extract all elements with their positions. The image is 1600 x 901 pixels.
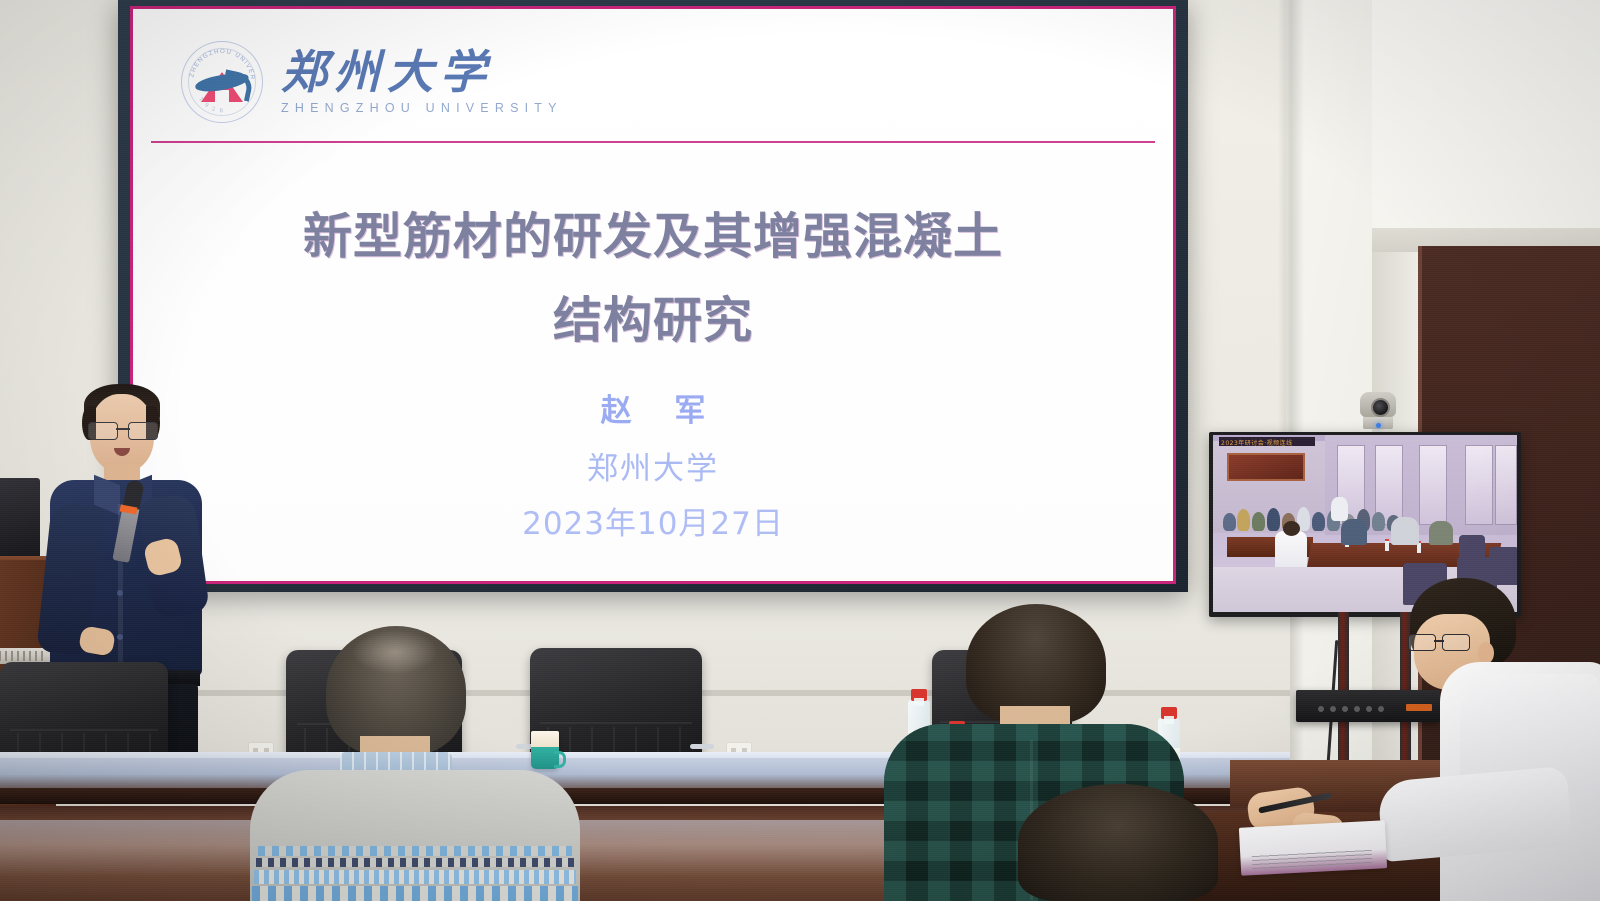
university-logo: ZHENGZHOU UNIVERSITY 1928 郑州大学 ZHENGZHOU… — [181, 41, 563, 123]
logo-english-name: ZHENGZHOU UNIVERSITY — [281, 102, 563, 115]
presenter-glasses-icon — [88, 422, 158, 438]
ceiling-soffit — [1372, 0, 1600, 252]
paper-cup[interactable] — [531, 731, 559, 769]
remote-room-banner: 2023年研讨会·视频连线 — [1221, 438, 1313, 446]
audience-member-3 — [1018, 784, 1218, 901]
presentation-slide[interactable]: ZHENGZHOU UNIVERSITY 1928 郑州大学 ZHENGZHOU… — [133, 9, 1173, 581]
audience-member-4 — [1400, 578, 1600, 901]
podium-monitor[interactable] — [0, 478, 40, 562]
attendee-glasses-icon — [1408, 634, 1470, 649]
slide-date: 2023年10月27日 — [133, 498, 1173, 543]
zhengzhou-university-seal-icon: ZHENGZHOU UNIVERSITY 1928 — [181, 41, 263, 123]
remote-audience — [1221, 503, 1407, 541]
camera-status-led — [1376, 423, 1381, 428]
chair-armrest — [690, 744, 714, 749]
av-indicator-leds — [1318, 706, 1394, 712]
slide-author: 赵 军 — [133, 385, 1173, 430]
logo-chinese-name: 郑州大学 — [281, 49, 563, 95]
camera-lens-icon — [1371, 398, 1390, 417]
slide-affiliation: 郑州大学 — [133, 443, 1173, 488]
slide-title-line-2: 结构研究 — [133, 279, 1173, 363]
slide-title: 新型筋材的研发及其增强混凝土 结构研究 — [133, 195, 1173, 364]
lecture-hall-scene: ZHENGZHOU UNIVERSITY 1928 郑州大学 ZHENGZHOU… — [0, 0, 1600, 901]
remote-room-plaque — [1227, 453, 1305, 481]
ptz-camera-icon — [1358, 390, 1398, 430]
slide-header-rule — [151, 141, 1155, 143]
slide-title-line-1: 新型筋材的研发及其增强混凝土 — [133, 195, 1173, 279]
